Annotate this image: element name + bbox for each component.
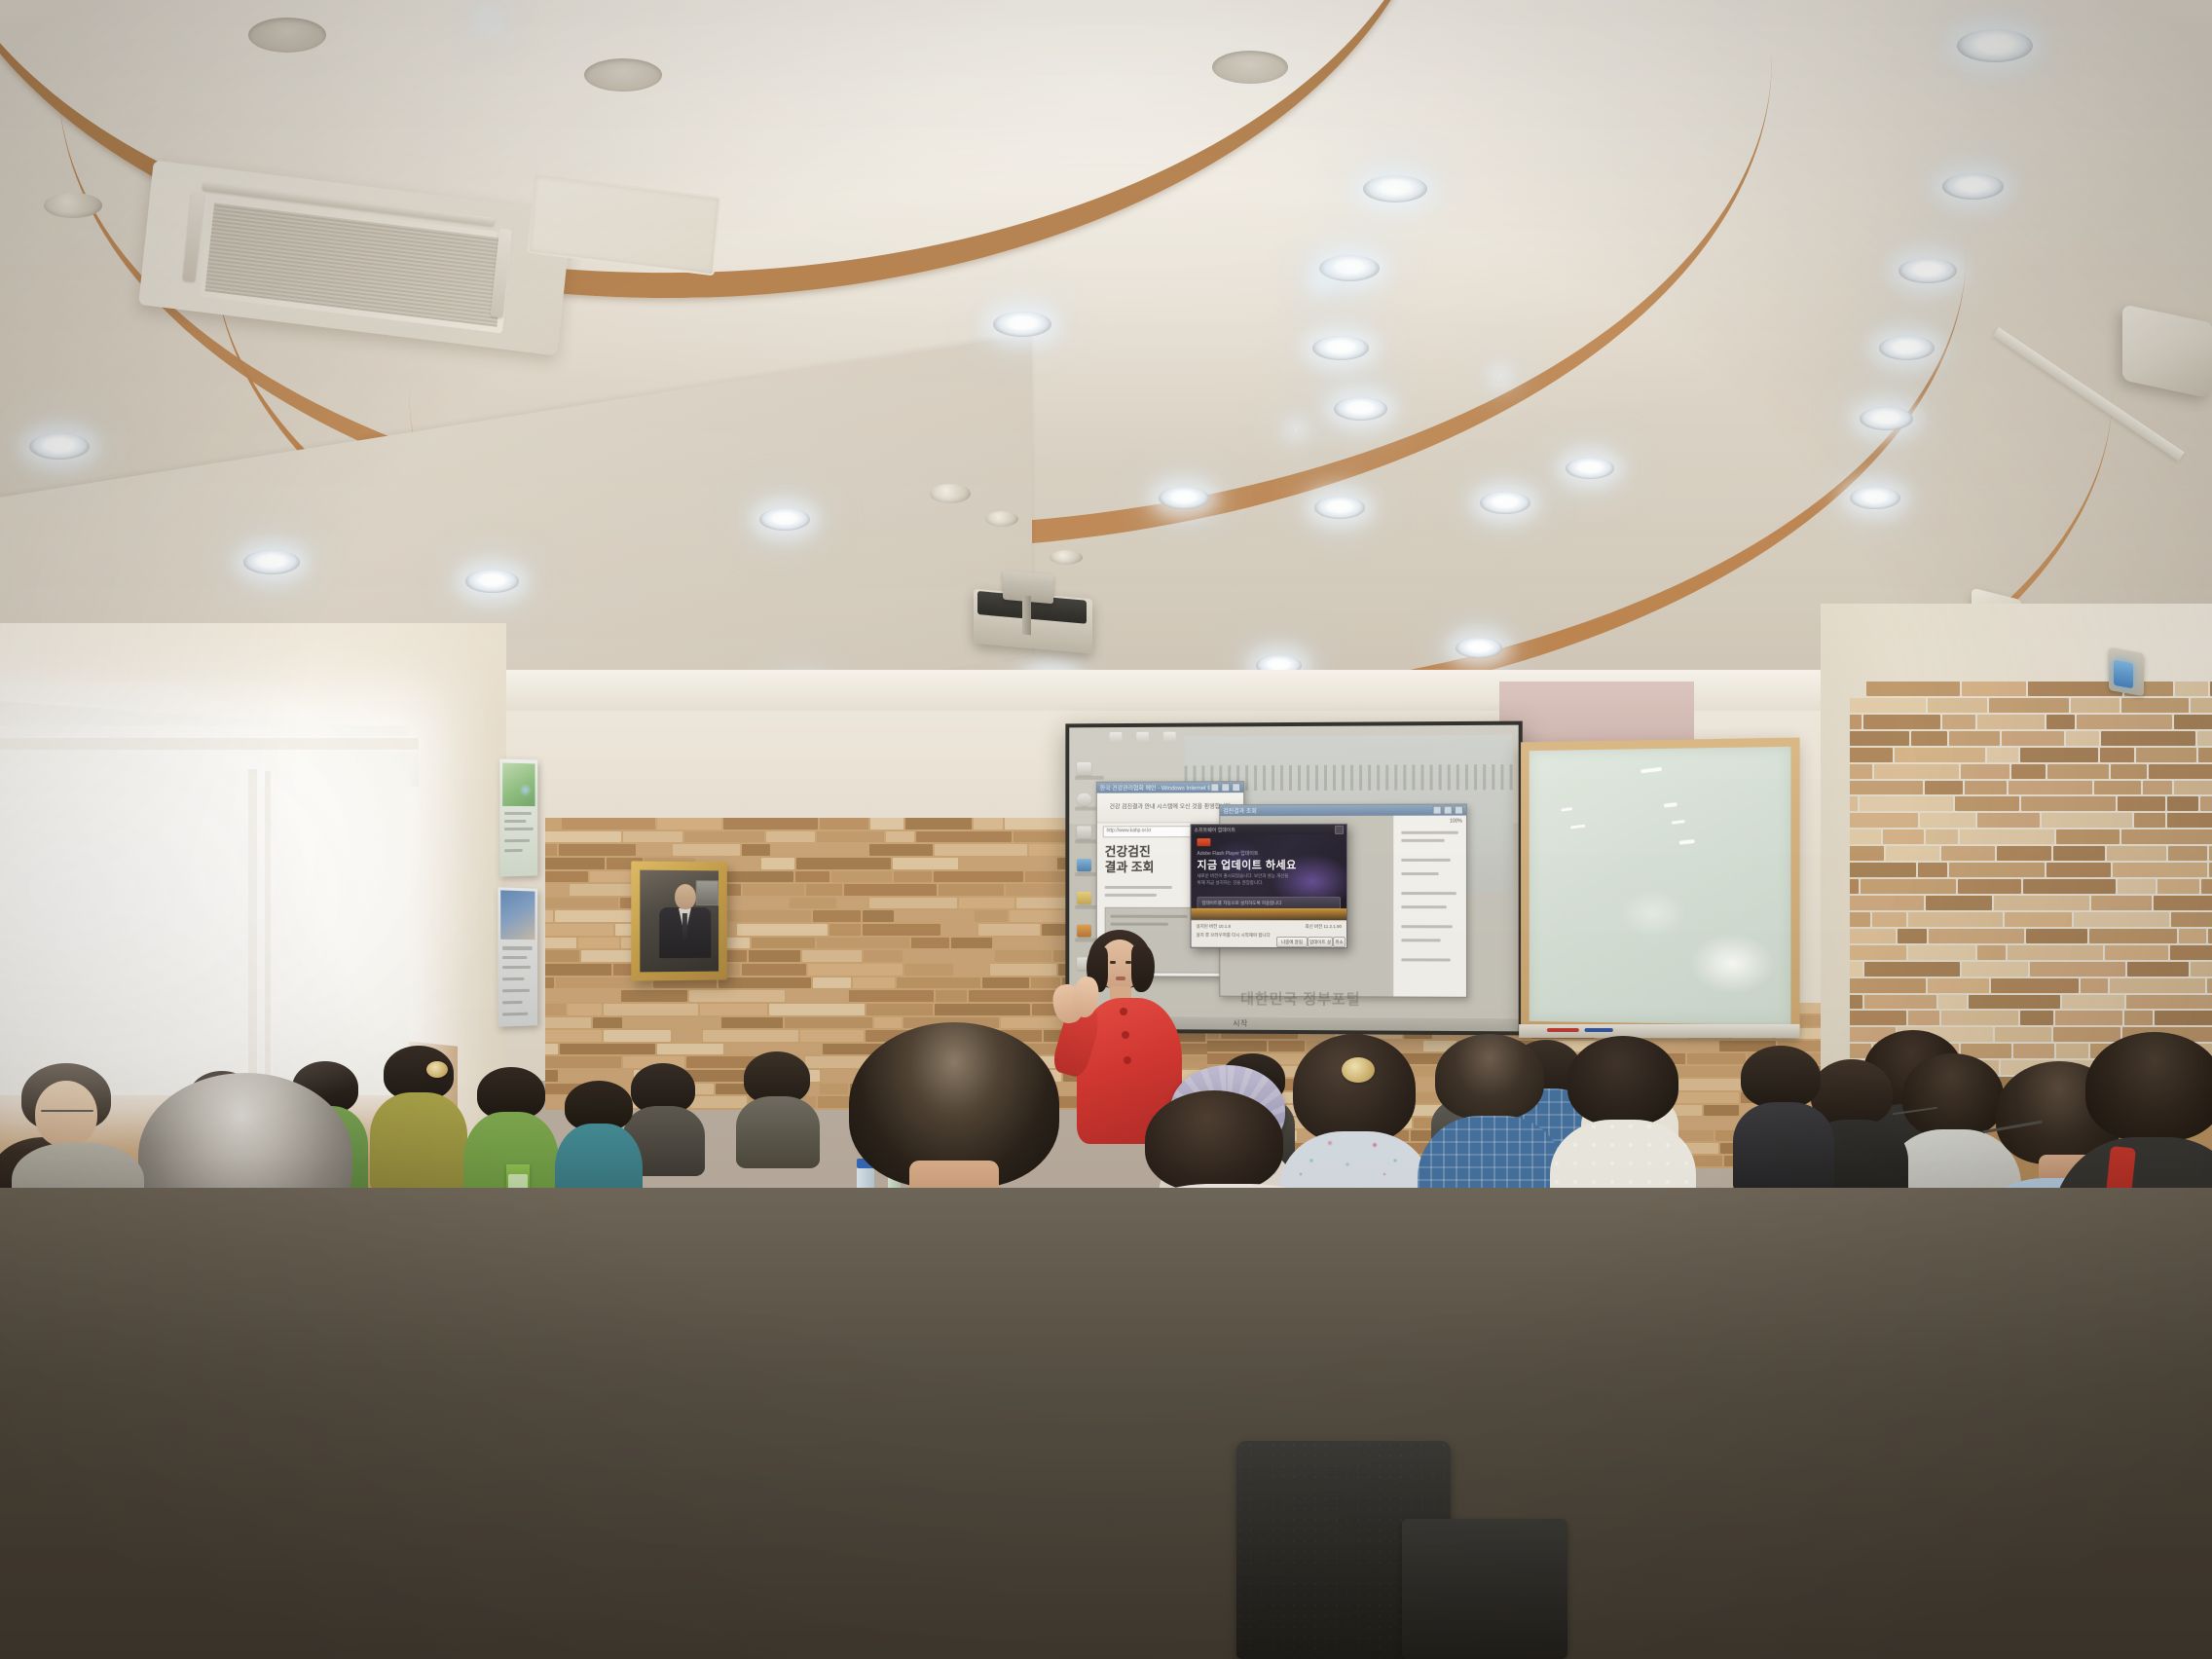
wood-plank: [813, 977, 851, 989]
marker-red[interactable]: [1547, 1028, 1579, 1032]
wood-plank: [1850, 1011, 1906, 1025]
wood-plank: [1850, 945, 1906, 960]
poster-text-line: [504, 849, 523, 852]
wood-plank: [1942, 715, 1975, 729]
handbag-floor: [1402, 1519, 1567, 1659]
close-icon[interactable]: [1232, 783, 1240, 792]
window: [0, 725, 409, 1095]
marker-blue[interactable]: [1585, 1028, 1613, 1032]
poster-lower-image: [500, 890, 535, 940]
poster-text-line: [502, 977, 524, 980]
wood-plank: [2020, 1011, 2053, 1025]
poster-lower: [498, 887, 537, 1026]
wood-plank: [1850, 978, 1926, 993]
wood-plank: [1926, 829, 1958, 844]
wood-plank: [939, 884, 1004, 896]
wood-plank: [893, 858, 958, 869]
wood-plank: [1941, 1011, 2018, 1025]
desktop-icon-recycle-bin[interactable]: [1077, 793, 1091, 806]
wood-plank: [2121, 698, 2189, 713]
wood-plank: [911, 938, 949, 949]
poster-text-line: [504, 820, 526, 823]
wood-plank: [1864, 995, 1936, 1010]
downlight: [1295, 428, 1297, 430]
presenter-eye-right: [1125, 961, 1131, 964]
browser-window-right-title: 검진결과 조회: [1223, 806, 1432, 816]
projector-mount-arm: [1022, 596, 1031, 636]
close-icon[interactable]: [1455, 806, 1463, 815]
wood-plank: [766, 831, 815, 843]
wood-plank: [2111, 764, 2147, 779]
whiteboard-glint: [1570, 825, 1586, 829]
wood-plank: [545, 924, 613, 936]
wood-plank: [936, 990, 967, 1002]
update-dialog-later-button[interactable]: 나중에 알림: [1276, 937, 1308, 947]
downlight: [1566, 458, 1614, 479]
wood-plank: [673, 1030, 701, 1042]
wood-plank: [1949, 731, 2000, 746]
wood-plank: [761, 858, 794, 869]
wood-plank: [1962, 962, 2028, 977]
wood-plank: [1920, 813, 1975, 828]
wood-plank: [990, 964, 1056, 976]
poster-text-line: [504, 828, 534, 830]
window-mullion-1: [248, 769, 257, 1100]
portrait-necktie: [682, 913, 687, 939]
wood-plank: [684, 831, 764, 843]
wood-plank: [1886, 846, 1939, 861]
wood-plank: [2100, 748, 2134, 762]
wood-plank: [863, 924, 940, 936]
smoke-detector-icon: [44, 193, 102, 218]
wood-plank: [1850, 896, 1924, 910]
downlight: [1860, 407, 1913, 430]
wood-plank: [1926, 896, 1992, 910]
wood-plank: [721, 1017, 783, 1029]
desktop-icon-folder[interactable]: [1077, 892, 1091, 904]
wood-plank: [2046, 863, 2111, 877]
update-dialog-headline: 지금 업데이트 하세요: [1197, 857, 1296, 872]
ceiling-recess-3: [1212, 51, 1288, 84]
wood-plank: [1949, 863, 2045, 877]
wood-plank: [2207, 978, 2212, 993]
wood-plank: [796, 858, 891, 869]
presenter-button-1: [1120, 1008, 1127, 1015]
poster-text-line: [502, 989, 530, 992]
wood-plank: [1861, 879, 1956, 894]
ceiling-recess-2: [584, 58, 662, 92]
wood-plank: [817, 938, 909, 949]
wood-plank: [2170, 945, 2212, 960]
poster-upper-image: [502, 763, 535, 807]
wood-plank: [2105, 945, 2168, 960]
browser-right-text-line: [1401, 872, 1438, 875]
wood-plank: [2066, 731, 2099, 746]
downlight: [1942, 173, 2004, 200]
portrait-window-detail: [696, 880, 719, 905]
wood-plank: [849, 990, 934, 1002]
wood-plank: [673, 844, 740, 856]
wood-plank: [869, 898, 957, 909]
poster-upper: [499, 758, 537, 876]
wood-plank: [864, 950, 903, 962]
whiteboard: [1521, 738, 1800, 1035]
wood-plank: [716, 871, 793, 883]
wood-plank: [2056, 829, 2120, 844]
wood-plank: [545, 977, 554, 989]
wood-plank: [1001, 1017, 1068, 1029]
downlight: [1499, 375, 1501, 377]
downlight: [1334, 397, 1387, 421]
presenter-mouth: [1116, 977, 1125, 980]
wood-plank: [806, 884, 842, 896]
browser-window-right-titlebar[interactable]: 검진결과 조회: [1220, 804, 1466, 816]
wood-plank: [545, 990, 619, 1002]
desktop-top-icon-1[interactable]: [1110, 732, 1123, 743]
desktop-icon-my-computer[interactable]: [1077, 762, 1091, 775]
wood-plank: [2191, 962, 2212, 977]
downlight: [1480, 492, 1530, 514]
poster-text-line: [504, 839, 530, 842]
wood-plank: [1960, 829, 2054, 844]
wood-plank: [2171, 912, 2212, 927]
wood-plank: [817, 831, 884, 843]
update-dialog-version-right: 최신 버전 11.2.1.90: [1305, 924, 1342, 930]
poster-text-line: [502, 946, 533, 950]
wood-plank: [2046, 715, 2075, 729]
wood-plank: [942, 924, 977, 936]
browser-window-back-titlebar[interactable]: 한국 건강관리협회 메인 - Windows Internet Explorer: [1097, 782, 1243, 793]
wood-plank: [935, 844, 1027, 856]
wood-plank: [2026, 929, 2087, 943]
wood-plank: [2071, 698, 2120, 713]
browser-right-text-line: [1401, 939, 1440, 941]
wood-plank: [1908, 945, 1975, 960]
wood-plank: [1895, 748, 1985, 762]
wood-plank: [1850, 698, 1926, 713]
wood-plank: [2011, 764, 2046, 779]
wood-plank: [905, 818, 972, 829]
wood-plank: [1850, 912, 1870, 927]
wood-plank: [1850, 863, 1916, 877]
wood-plank: [657, 818, 721, 829]
wood-plank: [2002, 731, 2064, 746]
taskbar-start-label: 시작: [1233, 1018, 1248, 1029]
browser-right-text-line: [1401, 958, 1450, 961]
minimize-icon[interactable]: [1433, 806, 1442, 815]
wood-plank: [2113, 863, 2207, 877]
wood-plank: [896, 910, 973, 922]
status-led-icon: [2114, 660, 2133, 689]
poster-text-line: [502, 966, 531, 969]
hair: [2085, 1032, 2212, 1141]
wood-plank: [1850, 813, 1918, 828]
wood-plank: [2157, 879, 2199, 894]
wood-plank: [1850, 962, 1862, 977]
wood-plank: [866, 1004, 933, 1015]
wood-plank: [1962, 682, 2026, 696]
downlight: [1319, 282, 1321, 284]
wood-plank: [2200, 796, 2212, 811]
desktop-top-icon-2[interactable]: [1136, 732, 1149, 743]
wood-plank: [808, 964, 903, 976]
back-wall-cornice: [448, 670, 1947, 711]
wood-plank: [2047, 764, 2109, 779]
presenter-button-2: [1122, 1031, 1129, 1039]
wood-plank: [2126, 995, 2212, 1010]
wood-plank: [545, 844, 557, 856]
wood-plank: [829, 924, 861, 936]
wood-plank: [844, 884, 937, 896]
wood-plank: [2053, 846, 2105, 861]
wood-plank: [545, 898, 618, 909]
update-dialog[interactable]: 소프트웨어 업데이트 Adobe Flash Player 업데이트 지금 업데…: [1191, 824, 1347, 948]
update-dialog-titlebar[interactable]: 소프트웨어 업데이트: [1192, 825, 1346, 834]
wood-plank: [1961, 764, 2009, 779]
brand-logo-icon: [1197, 838, 1210, 846]
wood-plank: [2021, 796, 2116, 811]
wood-plank: [2201, 879, 2212, 894]
downlight: [1456, 638, 1502, 658]
browser-window-back-title: 한국 건강관리협회 메인 - Windows Internet Explorer: [1100, 783, 1211, 792]
wood-plank: [545, 884, 568, 896]
browser-back-big-text-1: 건강검진: [1105, 845, 1151, 859]
wood-plank: [904, 964, 953, 976]
downlight: [1879, 336, 1935, 360]
wood-plank: [995, 950, 1051, 962]
wood-plank: [1850, 929, 1896, 943]
wood-plank: [562, 818, 655, 829]
framed-portrait: [631, 861, 726, 980]
wood-plank: [2020, 748, 2098, 762]
wood-plank: [772, 844, 867, 856]
wood-plank: [1850, 879, 1859, 894]
wood-plank: [545, 871, 588, 883]
wood-plank: [545, 818, 560, 829]
wood-plank: [623, 831, 682, 843]
wood-plank: [1207, 1041, 1267, 1051]
whiteboard-surface[interactable]: [1530, 747, 1791, 1025]
whiteboard-glint: [1679, 839, 1695, 845]
poster-text-line: [502, 1001, 523, 1004]
wood-plank: [1850, 796, 1858, 811]
wood-plank: [2127, 962, 2189, 977]
downlight: [1314, 497, 1365, 519]
poster-text-line: [504, 812, 532, 815]
downlight: [1363, 175, 1427, 203]
wood-plank: [1994, 896, 2089, 910]
wood-plank: [545, 910, 553, 922]
wood-plank: [959, 898, 1014, 909]
browser-back-text-line: [1111, 923, 1168, 926]
update-dialog-cancel-button[interactable]: 취소: [1333, 937, 1346, 947]
wood-plank: [1977, 813, 2040, 828]
wood-plank: [974, 818, 1003, 829]
wood-plank: [1997, 846, 2051, 861]
wood-plank: [2143, 781, 2172, 795]
wood-plank: [853, 977, 895, 989]
browser-back-text-line: [1111, 915, 1188, 918]
wood-plank: [749, 950, 800, 962]
wood-plank: [559, 844, 636, 856]
maximize-icon[interactable]: [1221, 783, 1230, 792]
downlight: [487, 19, 489, 21]
wood-plank: [1850, 846, 1884, 861]
wood-plank: [1874, 764, 1959, 779]
wood-plank: [1850, 829, 1881, 844]
wood-plank: [1955, 796, 2019, 811]
wood-plank: [2121, 829, 2212, 844]
wood-plank: [1928, 978, 1989, 993]
desktop-watermark: 대한민국 정부포털: [1240, 988, 1360, 1010]
wood-plank: [2168, 846, 2207, 861]
wood-plank: [870, 818, 903, 829]
wood-plank: [2124, 1011, 2153, 1025]
update-dialog-note: 설치 후 브라우저를 다시 시작해야 합니다: [1197, 933, 1274, 939]
wood-plank: [1991, 978, 2079, 993]
right-wall-device: [2109, 647, 2144, 696]
wood-plank: [545, 858, 605, 869]
downlight: [1159, 487, 1209, 509]
hair: [1145, 1090, 1283, 1192]
wood-plank: [1929, 929, 2024, 943]
desktop-icon-internet[interactable]: [1077, 859, 1091, 871]
audience-member: [1733, 1046, 1834, 1192]
browser-right-text-line: [1401, 925, 1452, 928]
ceiling-recess-1: [248, 18, 326, 53]
desktop-icon-label: [1075, 776, 1103, 780]
update-dialog-footer: 설치된 버전 10.1.8 최신 버전 11.2.1.90 설치 후 브라우저를…: [1192, 920, 1346, 947]
wood-plank: [2074, 912, 2169, 927]
hair: [1567, 1036, 1678, 1125]
desktop-top-icon-3[interactable]: [1163, 732, 1176, 743]
portrait-canvas: [640, 870, 719, 973]
smoke-detector-icon-3: [1050, 550, 1083, 565]
wood-plank: [2134, 813, 2165, 828]
desktop-icon-my-documents[interactable]: [1077, 826, 1091, 838]
presenter-eye-left: [1110, 961, 1116, 964]
wood-plank: [1928, 698, 1987, 713]
downlight: [465, 570, 519, 593]
wood-plank: [717, 910, 811, 922]
presenter-hair-right: [1131, 945, 1155, 992]
poster-text-line: [502, 956, 527, 959]
wood-plank: [1969, 995, 2060, 1010]
wood-plank: [689, 990, 785, 1002]
window-controls[interactable]: [1433, 806, 1463, 815]
wood-plank: [2118, 796, 2165, 811]
downlight: [759, 508, 810, 531]
maximize-icon[interactable]: [1444, 806, 1453, 815]
wood-plank: [1977, 715, 2045, 729]
whiteboard-glint: [1672, 820, 1685, 825]
wood-plank: [2089, 929, 2177, 943]
browser-right-text-line: [1401, 859, 1450, 862]
browser-back-text-line: [1105, 886, 1172, 889]
wood-plank: [578, 938, 619, 949]
wood-plank: [624, 1017, 719, 1029]
wood-plank: [2179, 929, 2206, 943]
wood-plank: [2081, 978, 2108, 993]
wood-plank: [1977, 945, 2006, 960]
wood-plank: [545, 1044, 558, 1055]
wood-plank: [2005, 912, 2072, 927]
wood-plank: [1908, 912, 2003, 927]
wood-plank: [982, 977, 1029, 989]
wood-plank: [2042, 813, 2132, 828]
window-controls[interactable]: [1210, 783, 1240, 792]
ceiling-sensor-icon: [985, 511, 1018, 527]
wood-plank: [874, 1017, 902, 1029]
wood-plank: [1911, 731, 1947, 746]
wood-plank: [545, 831, 621, 843]
browser-window-back-heading: 건강 검진결과 안내 시스템에 오신 것을 환영합니다: [1110, 803, 1232, 811]
whiteboard-glint: [1641, 767, 1662, 774]
downlight: [1899, 258, 1957, 283]
wood-plank: [787, 990, 847, 1002]
wood-plank: [802, 950, 862, 962]
wood-plank: [1850, 748, 1893, 762]
browser-right-text-line: [1401, 831, 1458, 834]
wood-plank: [2149, 764, 2212, 779]
wood-plank: [916, 831, 1012, 843]
wood-plank: [2136, 748, 2196, 762]
downlight: [993, 312, 1051, 337]
update-dialog-title: 소프트웨어 업데이트: [1195, 826, 1335, 832]
wood-plank: [2055, 1011, 2122, 1025]
wood-plank: [545, 964, 611, 976]
wood-plank: [2094, 781, 2141, 795]
wood-plank: [2167, 813, 2212, 828]
whiteboard-glint: [1664, 802, 1677, 808]
wood-plank: [886, 831, 914, 843]
wood-plank: [2154, 896, 2212, 910]
wood-plank: [2155, 1011, 2212, 1025]
wood-plank: [1883, 829, 1924, 844]
wood-plank: [1866, 682, 1960, 696]
browser-right-text-line: [1401, 905, 1446, 908]
poster-text-line: [502, 1013, 528, 1016]
wood-plank: [545, 1004, 566, 1015]
wood-plank: [897, 977, 980, 989]
portrait-face: [675, 884, 696, 909]
wood-plank: [978, 924, 1040, 936]
browser-right-text-line: [1401, 839, 1444, 842]
wood-plank: [1029, 844, 1067, 856]
hair-balding: [1435, 1034, 1544, 1120]
wood-plank: [934, 871, 1023, 883]
wood-plank: [820, 818, 868, 829]
wood-plank: [2062, 995, 2124, 1010]
close-icon[interactable]: [1335, 825, 1344, 833]
update-dialog-install-button[interactable]: 업데이트 설치: [1308, 937, 1333, 947]
wood-plank: [1918, 863, 1947, 877]
wood-plank: [593, 1017, 622, 1029]
browser-right-zoom-label: 100%: [1450, 819, 1462, 825]
minimize-icon[interactable]: [1210, 783, 1219, 792]
shirt-dark: [1733, 1102, 1834, 1196]
wood-plank: [1872, 912, 1906, 927]
wood-plank: [869, 844, 933, 856]
wood-plank: [737, 924, 828, 936]
wood-plank: [2077, 715, 2172, 729]
wood-plank: [2198, 748, 2212, 762]
wood-plank: [1987, 748, 2018, 762]
wood-plank: [960, 858, 1055, 869]
wood-plank: [1965, 781, 2007, 795]
wood-plank: [1850, 764, 1872, 779]
wood-plank: [560, 1070, 632, 1082]
